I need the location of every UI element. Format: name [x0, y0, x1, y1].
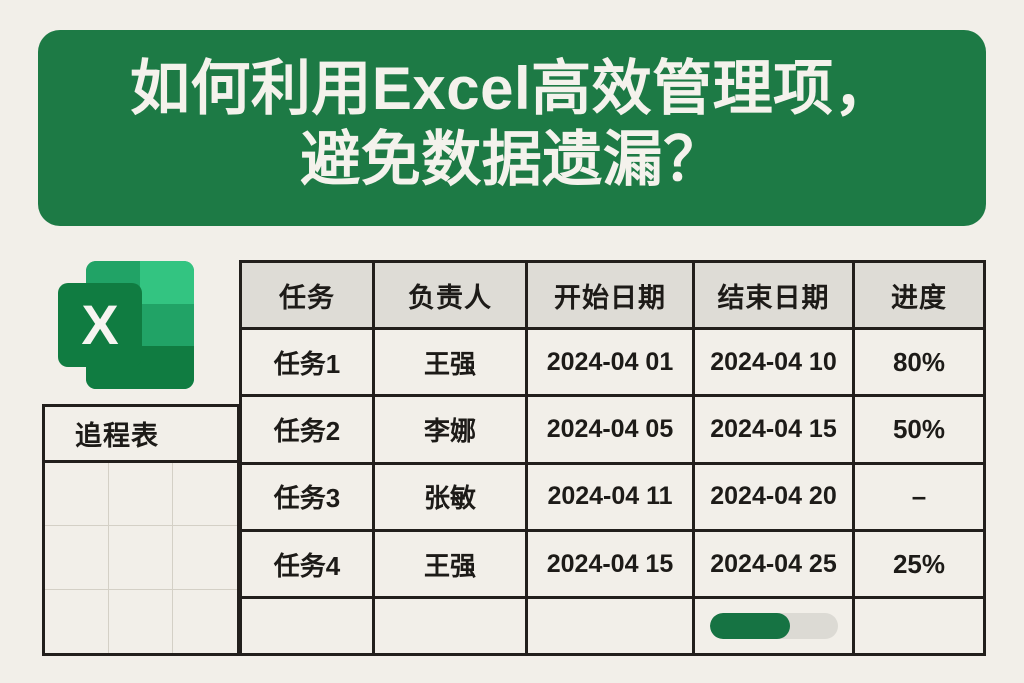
- task-table-head: 任务 负责人 开始日期 结束日期 进度: [241, 262, 985, 329]
- sidebar-blank-cell[interactable]: [173, 526, 237, 589]
- title-line-2: 避免数据遗漏？: [300, 125, 724, 196]
- cell-end-date[interactable]: 2024-04 20: [694, 463, 854, 530]
- table-header-row: 任务 负责人 开始日期 结束日期 进度: [241, 262, 985, 329]
- table-row: 任务4 王强 2024-04 15 2024-04 25 25%: [241, 530, 985, 597]
- title-line-1: 如何利用Excel高效管理项，: [130, 54, 894, 125]
- sidebar-blank-cell[interactable]: [109, 463, 173, 526]
- cell-end-date[interactable]: 2024-04 10: [694, 329, 854, 396]
- column-header-task[interactable]: 任务: [241, 262, 374, 329]
- cell-progress[interactable]: 25%: [854, 530, 985, 597]
- column-header-owner[interactable]: 负责人: [374, 262, 527, 329]
- title-banner: 如何利用Excel高效管理项， 避免数据遗漏？: [38, 30, 986, 226]
- sidebar-blank-cell[interactable]: [173, 463, 237, 526]
- cell-owner[interactable]: [374, 598, 527, 655]
- table-row: 任务2 李娜 2024-04 05 2024-04 15 50%: [241, 396, 985, 463]
- sidebar-blank-cell[interactable]: [45, 526, 109, 589]
- excel-app-icon[interactable]: X: [58, 261, 194, 389]
- cell-progress-bar[interactable]: [694, 598, 854, 655]
- cell-progress[interactable]: –: [854, 463, 985, 530]
- table-row: 任务3 张敏 2024-04 11 2024-04 20 –: [241, 463, 985, 530]
- cell-start-date[interactable]: 2024-04 11: [527, 463, 694, 530]
- cell-start-date[interactable]: 2024-04 01: [527, 329, 694, 396]
- sidebar-label-cell[interactable]: 追程表: [45, 407, 237, 463]
- cell-end-date[interactable]: 2024-04 25: [694, 530, 854, 597]
- excel-quadrant: [140, 346, 194, 389]
- table-row: 任务1 王强 2024-04 01 2024-04 10 80%: [241, 329, 985, 396]
- cell-progress[interactable]: 50%: [854, 396, 985, 463]
- excel-quadrant: [140, 261, 194, 304]
- sidebar-blank-cell[interactable]: [109, 590, 173, 653]
- sidebar-blank-cell[interactable]: [109, 526, 173, 589]
- excel-x-letter: X: [81, 297, 118, 353]
- cell-progress[interactable]: [854, 598, 985, 655]
- progress-bar-track: [710, 613, 838, 639]
- cell-task[interactable]: [241, 598, 374, 655]
- cell-end-date[interactable]: 2024-04 15: [694, 396, 854, 463]
- cell-task[interactable]: 任务1: [241, 329, 374, 396]
- cell-owner[interactable]: 王强: [374, 530, 527, 597]
- cell-start-date[interactable]: 2024-04 05: [527, 396, 694, 463]
- progress-bar-fill: [710, 613, 791, 639]
- cell-owner[interactable]: 张敏: [374, 463, 527, 530]
- task-table: 任务 负责人 开始日期 结束日期 进度 任务1 王强 2024-04 01 20…: [239, 260, 986, 656]
- column-header-start[interactable]: 开始日期: [527, 262, 694, 329]
- excel-x-tile: X: [58, 283, 142, 367]
- column-header-progress[interactable]: 进度: [854, 262, 985, 329]
- sidebar-sheet: 追程表: [42, 404, 240, 656]
- cell-owner[interactable]: 李娜: [374, 396, 527, 463]
- cell-task[interactable]: 任务3: [241, 463, 374, 530]
- excel-quadrant: [140, 304, 194, 347]
- sidebar-blank-cell[interactable]: [45, 590, 109, 653]
- sidebar-blank-cell[interactable]: [173, 590, 237, 653]
- cell-start-date[interactable]: 2024-04 15: [527, 530, 694, 597]
- cell-owner[interactable]: 王强: [374, 329, 527, 396]
- cell-task[interactable]: 任务4: [241, 530, 374, 597]
- column-header-end[interactable]: 结束日期: [694, 262, 854, 329]
- cell-start-date[interactable]: [527, 598, 694, 655]
- table-footer-row: [241, 598, 985, 655]
- task-table-body: 任务1 王强 2024-04 01 2024-04 10 80% 任务2 李娜 …: [241, 329, 985, 655]
- cell-progress[interactable]: 80%: [854, 329, 985, 396]
- sidebar-blank-grid: [45, 463, 237, 653]
- sidebar-label: 追程表: [75, 414, 159, 453]
- cell-task[interactable]: 任务2: [241, 396, 374, 463]
- sidebar-blank-cell[interactable]: [45, 463, 109, 526]
